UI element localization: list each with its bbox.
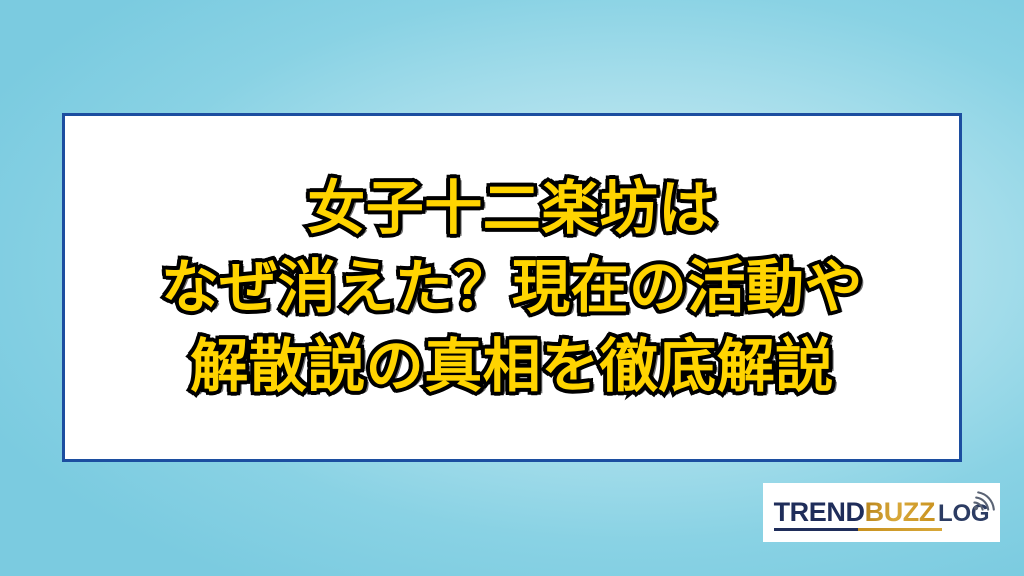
logo-wordmark: TREND BUZZ LOG	[774, 499, 990, 526]
thumbnail-canvas: 女子十二楽坊は なぜ消えた？現在の活動や 解散説の真相を徹底解説 TREND B…	[0, 0, 1024, 576]
logo-text-buzz: BUZZ	[865, 499, 935, 526]
headline-line-3: 解散説の真相を徹底解説	[75, 327, 949, 406]
headline-line-2: なぜ消えた？現在の活動や	[75, 248, 949, 327]
title-card: 女子十二楽坊は なぜ消えた？現在の活動や 解散説の真相を徹底解説	[62, 113, 962, 462]
logo-inner: TREND BUZZ LOG	[768, 499, 996, 526]
logo-underline-bar	[774, 528, 942, 531]
brand-logo-badge[interactable]: TREND BUZZ LOG	[763, 483, 1000, 542]
headline-block: 女子十二楽坊は なぜ消えた？現在の活動や 解散説の真相を徹底解説	[65, 169, 959, 406]
headline-line-1: 女子十二楽坊は	[75, 169, 949, 248]
logo-text-trend: TREND	[774, 499, 865, 526]
signal-waves-icon	[971, 488, 997, 512]
